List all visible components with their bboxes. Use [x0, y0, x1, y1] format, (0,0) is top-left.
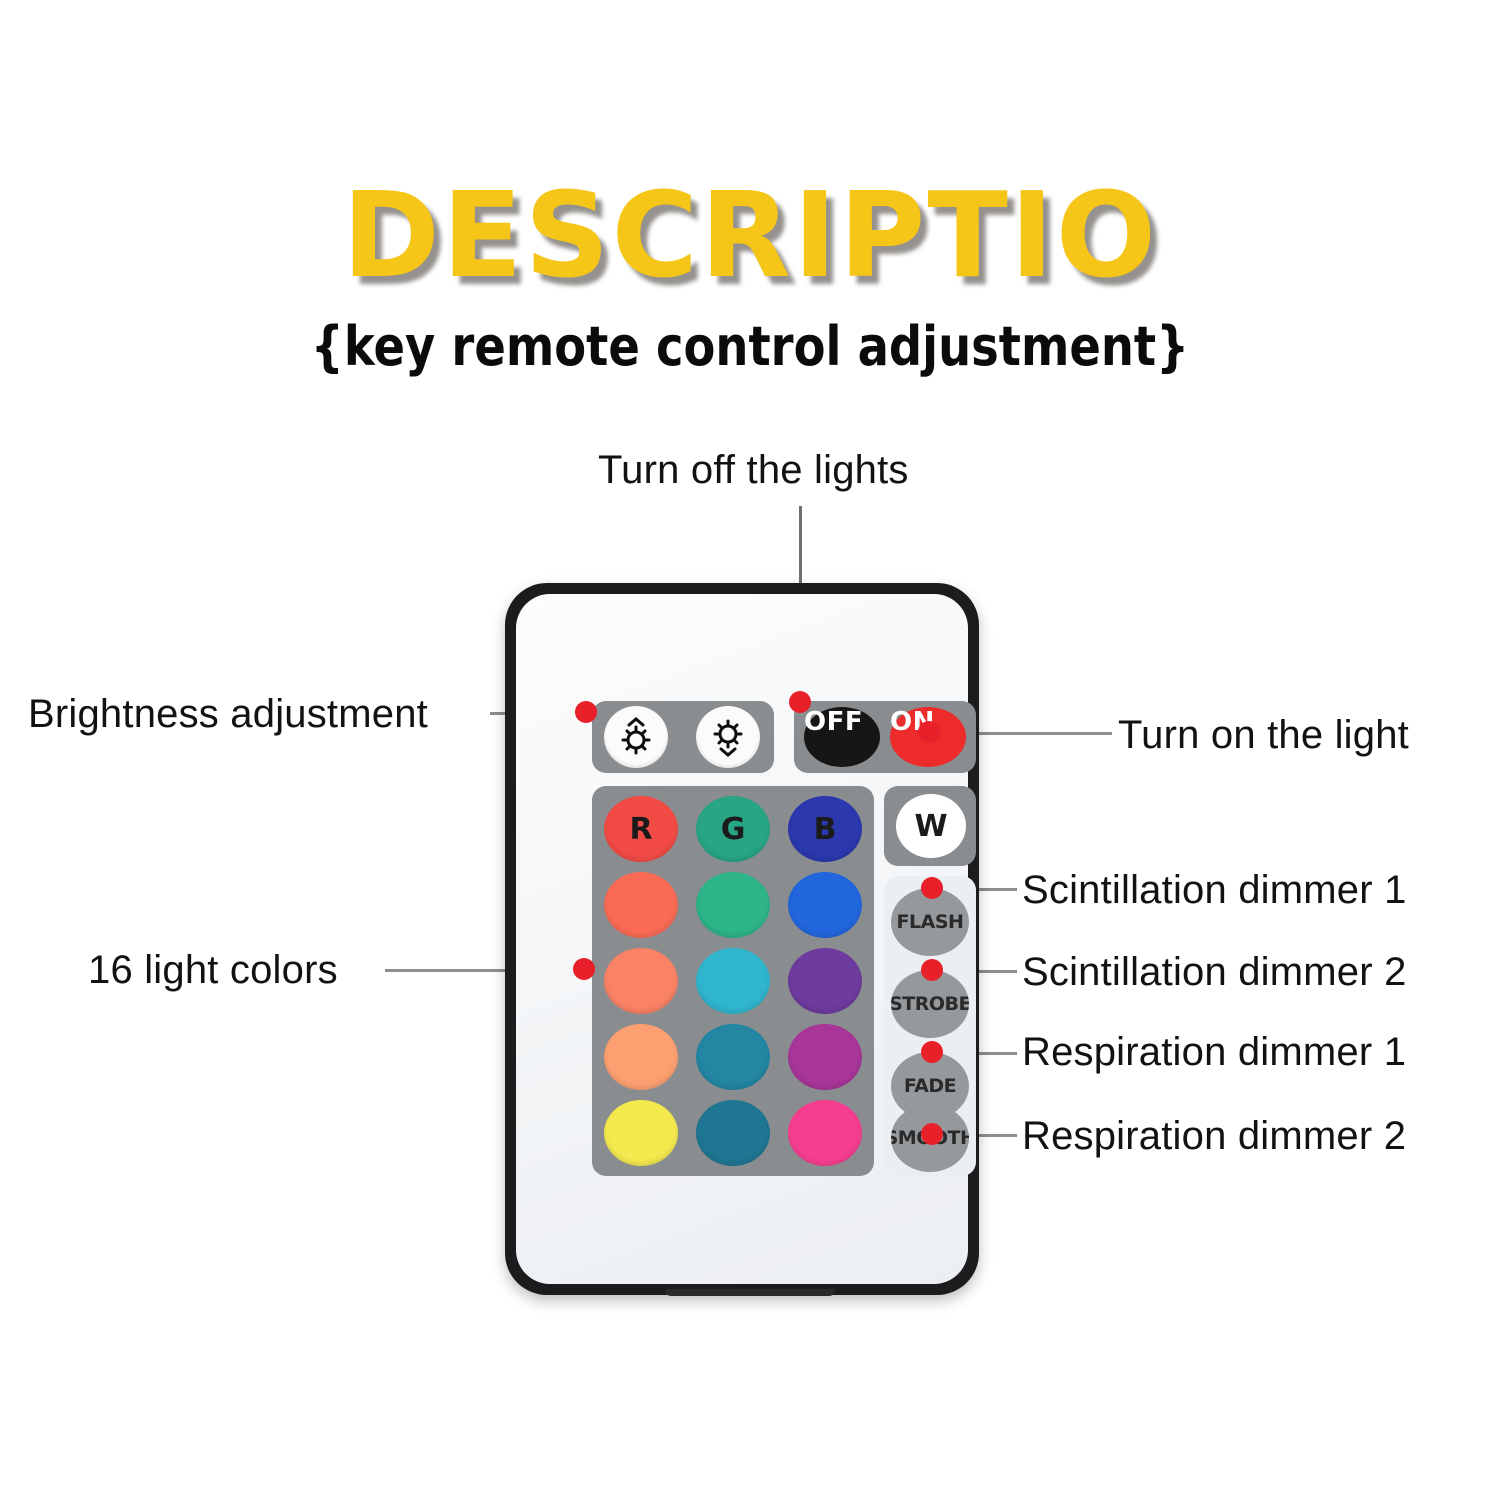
color-swatch-r4c2[interactable]	[696, 1024, 770, 1090]
color-swatch-r5c1[interactable]	[604, 1100, 678, 1166]
callout-respiration-dimmer-1: Respiration dimmer 1	[1022, 1030, 1406, 1075]
sun-down-icon	[705, 714, 751, 760]
white-color-button[interactable]: W	[896, 794, 966, 858]
remote-bottom-notch	[665, 1289, 835, 1296]
remote-control: OFF ON R G B W FLASH STROBE	[505, 583, 979, 1295]
marker-dot-flash	[921, 877, 943, 899]
marker-dot-brightness	[575, 701, 597, 723]
remote-face-panel: OFF ON R G B W FLASH STROBE	[516, 594, 968, 1284]
brightness-up-button[interactable]	[604, 706, 668, 768]
callout-respiration-dimmer-2: Respiration dimmer 2	[1022, 1114, 1406, 1159]
marker-dot-off	[789, 691, 811, 713]
callout-turn-off-lights: Turn off the lights	[598, 448, 909, 493]
page-title: DESCRIPTIO	[0, 176, 1500, 294]
callout-16-light-colors: 16 light colors	[88, 948, 338, 993]
page-subtitle: {key remote control adjustment}	[105, 320, 1395, 374]
marker-dot-fade	[921, 1041, 943, 1063]
power-button-tray: OFF ON	[794, 701, 976, 773]
color-swatch-r5c2[interactable]	[696, 1100, 770, 1166]
color-swatch-r2c3[interactable]	[788, 872, 862, 938]
callout-turn-on-light: Turn on the light	[1118, 713, 1409, 758]
color-swatch-r3c1[interactable]	[604, 948, 678, 1014]
callout-scintillation-dimmer-2: Scintillation dimmer 2	[1022, 950, 1407, 995]
color-swatch-r5c3[interactable]	[788, 1100, 862, 1166]
color-swatch-r2c2[interactable]	[696, 872, 770, 938]
brightness-button-tray	[592, 701, 774, 773]
color-grid-tray: R G B	[592, 786, 874, 1176]
color-swatch-r4c1[interactable]	[604, 1024, 678, 1090]
marker-dot-strobe	[921, 959, 943, 981]
callout-brightness-adjustment: Brightness adjustment	[28, 692, 428, 737]
marker-dot-smooth	[921, 1123, 943, 1145]
color-swatch-r2c1[interactable]	[604, 872, 678, 938]
color-swatch-r3c2[interactable]	[696, 948, 770, 1014]
color-swatch-blue[interactable]: B	[788, 796, 862, 862]
color-swatch-red[interactable]: R	[604, 796, 678, 862]
sun-up-icon	[613, 714, 659, 760]
marker-dot-colors	[573, 958, 595, 980]
color-swatch-green[interactable]: G	[696, 796, 770, 862]
color-swatch-r3c3[interactable]	[788, 948, 862, 1014]
callout-scintillation-dimmer-1: Scintillation dimmer 1	[1022, 868, 1407, 913]
header-block: DESCRIPTIO {key remote control adjustmen…	[0, 0, 1500, 374]
marker-dot-on	[918, 721, 940, 743]
brightness-down-button[interactable]	[696, 706, 760, 768]
off-button[interactable]: OFF	[804, 707, 880, 767]
color-swatch-r4c3[interactable]	[788, 1024, 862, 1090]
